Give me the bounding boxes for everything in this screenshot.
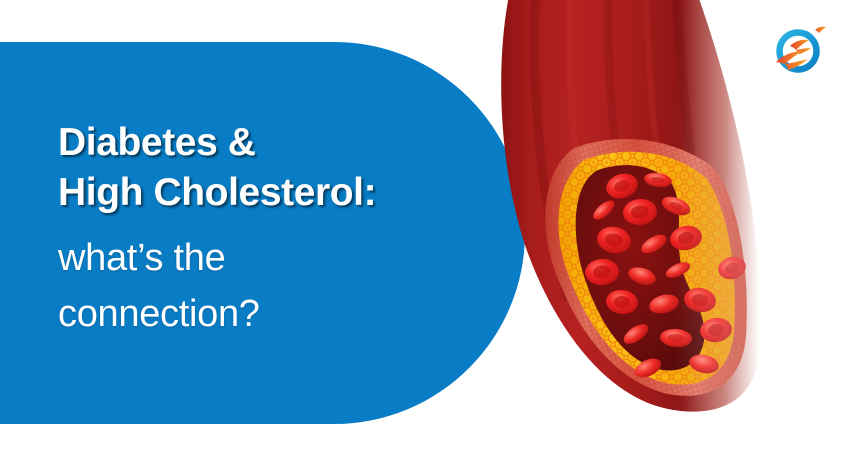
headline-line-1: Diabetes & [58, 121, 256, 164]
headline-line-2: High Cholesterol: [58, 168, 478, 218]
logo-bird-small [815, 27, 826, 33]
subhead-line-1: what’s the [58, 237, 225, 279]
banner: Diabetes & High Cholesterol: what’s the … [0, 0, 850, 467]
brand-logo[interactable] [770, 18, 832, 80]
headline-block: Diabetes & High Cholesterol: what’s the … [58, 118, 478, 342]
page-title: Diabetes & High Cholesterol: [58, 118, 478, 218]
subhead-line-2: connection? [58, 286, 478, 342]
page-subtitle: what’s the connection? [58, 230, 478, 342]
